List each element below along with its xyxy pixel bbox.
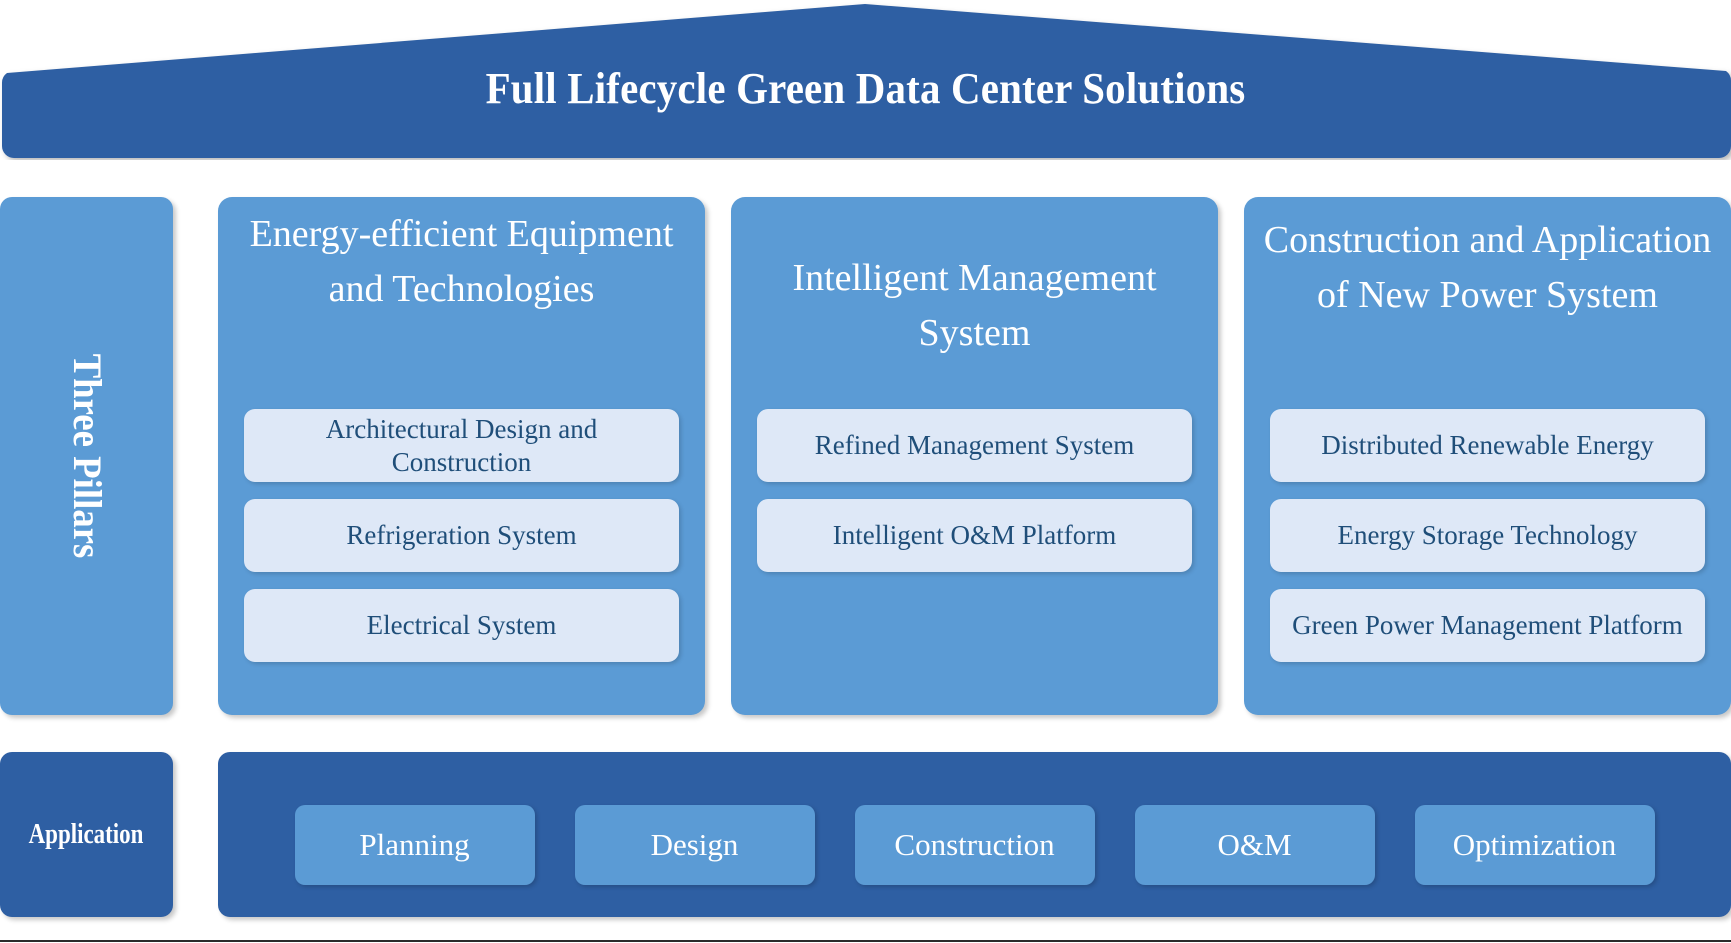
application-stages-bar: Planning Design Construction O&M Optimiz… [218,752,1731,917]
pillar-sub-item[interactable]: Refrigeration System [244,499,679,572]
application-stage-om[interactable]: O&M [1135,805,1375,885]
three-pillars-label-box: Three Pillars [0,197,173,715]
pillar-sub-item[interactable]: Distributed Renewable Energy [1270,409,1705,482]
pillar-heading: Intelligent Management System [745,251,1204,361]
application-stage-planning[interactable]: Planning [295,805,535,885]
header-roof-banner: Full Lifecycle Green Data Center Solutio… [0,0,1731,160]
pillar-sub-item[interactable]: Architectural Design and Construction [244,409,679,482]
pillar-sub-item-list: Distributed Renewable Energy Energy Stor… [1270,409,1705,679]
application-label-box: Application [0,752,173,917]
application-stage-design[interactable]: Design [575,805,815,885]
bottom-divider [0,940,1731,942]
pillar-sub-item[interactable]: Energy Storage Technology [1270,499,1705,572]
pillar-sub-item[interactable]: Refined Management System [757,409,1192,482]
application-stage-optimization[interactable]: Optimization [1415,805,1655,885]
three-pillars-label: Three Pillars [65,354,109,559]
pillar-sub-item[interactable]: Electrical System [244,589,679,662]
pillar-sub-item[interactable]: Green Power Management Platform [1270,589,1705,662]
application-section: Application Planning Design Construction… [0,752,1731,917]
pillar-card-energy-efficient-equipment[interactable]: Energy-efficient Equipment and Technolog… [218,197,705,715]
page-title: Full Lifecycle Green Data Center Solutio… [61,62,1671,116]
application-stage-list: Planning Design Construction O&M Optimiz… [218,805,1731,885]
three-pillars-section: Three Pillars Energy-efficient Equipment… [0,197,1731,715]
application-label: Application [29,819,144,851]
pillar-heading: Construction and Application of New Powe… [1258,213,1717,323]
pillar-card-new-power-system[interactable]: Construction and Application of New Powe… [1244,197,1731,715]
pillar-sub-item[interactable]: Intelligent O&M Platform [757,499,1192,572]
pillar-card-intelligent-management-system[interactable]: Intelligent Management System Refined Ma… [731,197,1218,715]
pillar-sub-item-list: Architectural Design and Construction Re… [244,409,679,679]
pillar-sub-item-list: Refined Management System Intelligent O&… [757,409,1192,589]
application-stage-construction[interactable]: Construction [855,805,1095,885]
pillar-heading: Energy-efficient Equipment and Technolog… [232,207,691,317]
